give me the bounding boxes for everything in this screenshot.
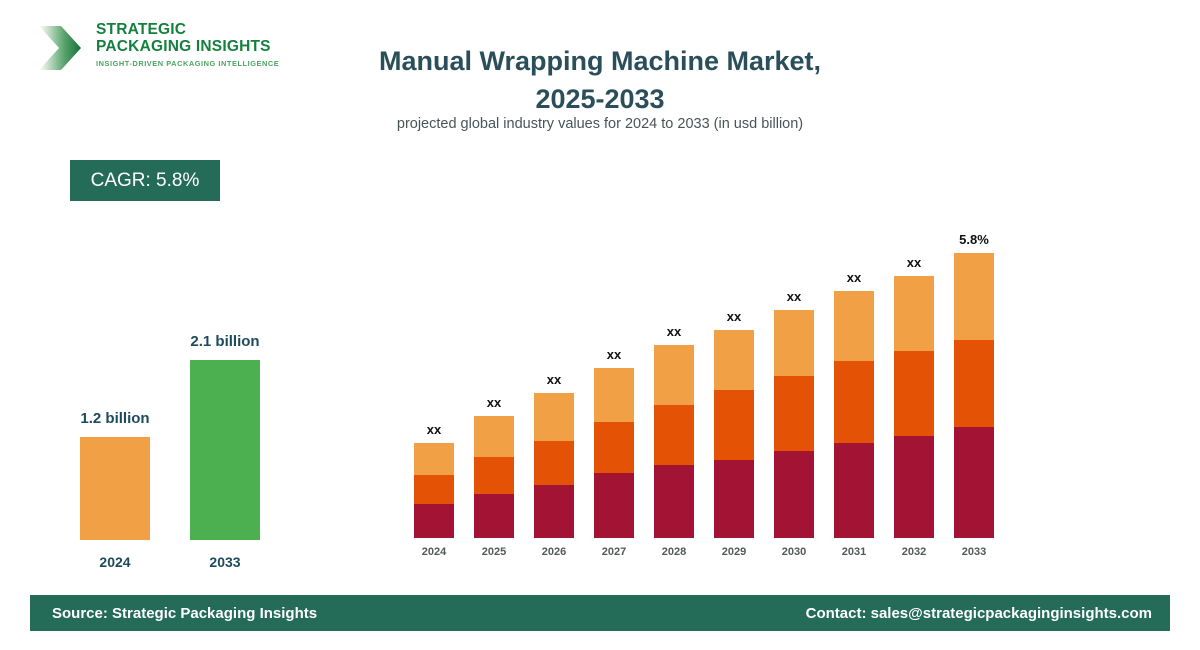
stacked-segment xyxy=(414,443,454,475)
comparison-year-label: 2024 xyxy=(80,554,150,570)
stacked-value-label: xx xyxy=(699,309,769,324)
page-title-line2: 2025-2033 xyxy=(300,80,900,118)
comparison-chart: 1.2 billion20242.1 billion2033 xyxy=(60,300,290,570)
stacked-bar xyxy=(654,345,694,538)
stacked-bar xyxy=(774,310,814,538)
stacked-value-label: xx xyxy=(459,395,529,410)
comparison-value-label: 2.1 billion xyxy=(145,333,305,350)
stacked-value-label: xx xyxy=(579,347,649,362)
stacked-segment xyxy=(474,494,514,538)
brand-logo: STRATEGIC PACKAGING INSIGHTS INSIGHT-DRI… xyxy=(30,18,290,80)
stacked-column: xx2028 xyxy=(654,220,694,560)
stacked-year-label: 2028 xyxy=(644,546,704,558)
brand-name-line2: PACKAGING INSIGHTS xyxy=(96,39,279,56)
chevron-icon xyxy=(35,20,91,76)
stacked-segment xyxy=(834,291,874,361)
stacked-segment xyxy=(714,460,754,538)
stacked-value-label: xx xyxy=(759,289,829,304)
stacked-segment xyxy=(654,345,694,405)
stacked-bar xyxy=(954,253,994,538)
stacked-segment xyxy=(594,422,634,473)
stacked-value-label: xx xyxy=(879,255,949,270)
stacked-segment xyxy=(834,361,874,443)
stacked-column: xx2031 xyxy=(834,220,874,560)
stacked-segment xyxy=(954,253,994,340)
footer-bar: Source: Strategic Packaging Insights Con… xyxy=(30,595,1170,631)
footer-source-text: Source: Strategic Packaging Insights xyxy=(52,595,317,631)
stacked-bar xyxy=(474,416,514,538)
stacked-segment xyxy=(774,451,814,538)
stacked-segment xyxy=(414,475,454,504)
stacked-segment xyxy=(774,376,814,451)
brand-wordmark: STRATEGIC PACKAGING INSIGHTS INSIGHT-DRI… xyxy=(96,22,279,68)
cagr-badge: CAGR: 5.8% xyxy=(70,160,220,201)
page-title: Manual Wrapping Machine Market, 2025-203… xyxy=(300,42,900,118)
stacked-segment xyxy=(474,416,514,457)
stacked-value-label: xx xyxy=(519,372,589,387)
stacked-year-label: 2031 xyxy=(824,546,884,558)
stacked-year-label: 2030 xyxy=(764,546,824,558)
stacked-year-label: 2029 xyxy=(704,546,764,558)
stacked-year-label: 2033 xyxy=(944,546,1004,558)
stacked-segment xyxy=(534,485,574,538)
stacked-value-label: 5.8% xyxy=(939,232,1009,247)
stacked-segment xyxy=(654,405,694,465)
stacked-column: xx2029 xyxy=(714,220,754,560)
stacked-segment xyxy=(534,441,574,485)
stacked-bar xyxy=(594,368,634,538)
stacked-segment xyxy=(594,473,634,538)
stacked-segment xyxy=(774,310,814,376)
stacked-bar-chart: xx2024xx2025xx2026xx2027xx2028xx2029xx20… xyxy=(400,200,1020,560)
stacked-year-label: 2027 xyxy=(584,546,644,558)
stacked-column: xx2025 xyxy=(474,220,514,560)
stacked-value-label: xx xyxy=(399,422,469,437)
stacked-segment xyxy=(654,465,694,538)
stacked-column: xx2032 xyxy=(894,220,934,560)
stacked-column: xx2030 xyxy=(774,220,814,560)
stacked-segment xyxy=(894,276,934,351)
stacked-segment xyxy=(414,504,454,538)
stacked-column: 5.8%2033 xyxy=(954,220,994,560)
page-title-line1: Manual Wrapping Machine Market, xyxy=(300,42,900,80)
comparison-column xyxy=(80,437,150,540)
stacked-column: xx2027 xyxy=(594,220,634,560)
footer-contact-text: Contact: sales@strategicpackaginginsight… xyxy=(806,595,1152,631)
comparison-value-label: 1.2 billion xyxy=(35,410,195,427)
stacked-segment xyxy=(954,340,994,427)
stacked-bar xyxy=(894,276,934,538)
stacked-year-label: 2032 xyxy=(884,546,944,558)
stacked-year-label: 2024 xyxy=(404,546,464,558)
page-subtitle: projected global industry values for 202… xyxy=(260,116,940,132)
stacked-segment xyxy=(834,443,874,538)
brand-name-line1: STRATEGIC xyxy=(96,22,279,39)
comparison-year-label: 2033 xyxy=(190,554,260,570)
stacked-year-label: 2025 xyxy=(464,546,524,558)
stacked-bar xyxy=(714,330,754,538)
stacked-segment xyxy=(714,330,754,390)
stacked-value-label: xx xyxy=(639,324,709,339)
stacked-segment xyxy=(594,368,634,422)
stacked-column: xx2026 xyxy=(534,220,574,560)
comparison-column xyxy=(190,360,260,540)
comparison-bar xyxy=(190,360,260,540)
brand-tagline: INSIGHT-DRIVEN PACKAGING INTELLIGENCE xyxy=(96,59,279,68)
comparison-bar xyxy=(80,437,150,540)
stacked-segment xyxy=(714,390,754,460)
stacked-bar xyxy=(834,291,874,538)
stacked-bar xyxy=(534,393,574,538)
stacked-segment xyxy=(894,351,934,436)
stacked-segment xyxy=(894,436,934,538)
stacked-bar xyxy=(414,443,454,538)
stacked-year-label: 2026 xyxy=(524,546,584,558)
stacked-segment xyxy=(474,457,514,494)
stacked-value-label: xx xyxy=(819,270,889,285)
stacked-segment xyxy=(954,427,994,538)
stacked-column: xx2024 xyxy=(414,220,454,560)
stacked-segment xyxy=(534,393,574,441)
